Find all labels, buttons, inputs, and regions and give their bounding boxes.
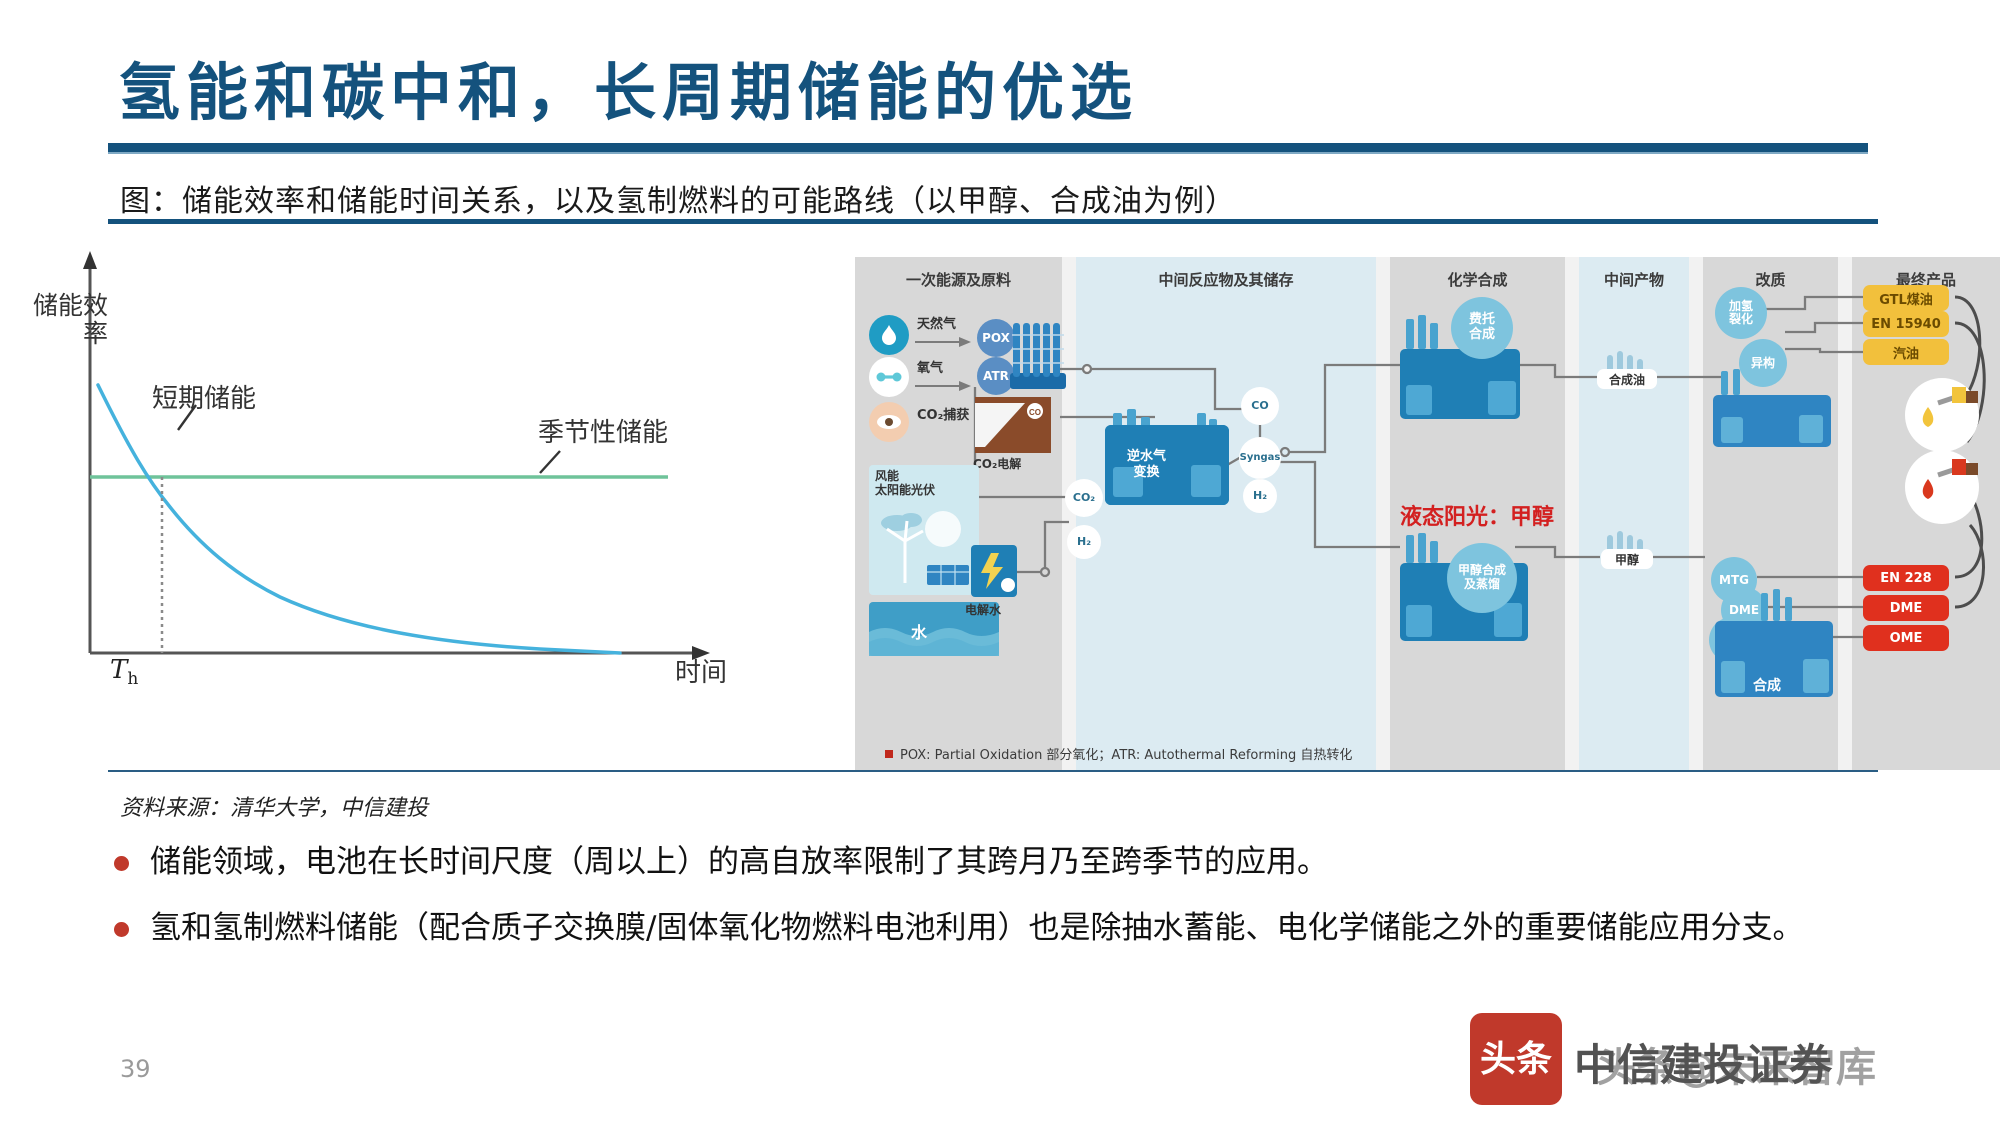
final-product-gtl-kerosene: GTL煤油 xyxy=(1863,285,1949,311)
svg-text:CO: CO xyxy=(1029,408,1041,417)
diagram-footnote: POX: Partial Oxidation 部分氧化；ATR: Autothe… xyxy=(885,744,1352,763)
midproduct-syn-oil: 合成油 xyxy=(1597,369,1657,389)
carrier-h2-top-label: H₂ xyxy=(1253,490,1267,502)
footnote-bullet-icon xyxy=(885,750,893,758)
chart-x-tick-th: Th xyxy=(110,655,138,689)
footnote-text: POX: Partial Oxidation 部分氧化；ATR: Autothe… xyxy=(900,748,1352,763)
title-underline-thin xyxy=(108,152,1868,154)
slide-page: 氢能和碳中和，长周期储能的优选 图：储能效率和储能时间关系，以及氢制燃料的可能路… xyxy=(0,0,2000,1125)
methanol-synthesis-label: 甲醇合成及蒸馏 xyxy=(1458,564,1506,592)
reactor-pox-label: POX xyxy=(982,331,1010,345)
water-electrolysis-icon xyxy=(971,545,1017,597)
watermark-seal: 头条 xyxy=(1470,1013,1562,1105)
final-product-en228: EN 228 xyxy=(1863,565,1949,591)
fischer-tropsch-label: 费托合成 xyxy=(1469,313,1495,343)
wind-turbine-solar-icon xyxy=(875,507,975,593)
co2-electrolysis-icon: CO xyxy=(975,397,1051,453)
arrow-icon xyxy=(915,335,971,349)
final-product-ome: OME xyxy=(1863,625,1949,651)
flame-icon xyxy=(869,315,909,355)
upgrading-badge-isomerization-label: 异构 xyxy=(1751,357,1775,370)
carrier-h2-bottom: H₂ xyxy=(1067,525,1101,559)
midproduct-methanol: 甲醇 xyxy=(1601,549,1653,569)
list-item: 氢和氢制燃料储能（配合质子交换膜/固体氧化物燃料电池利用）也是除抽水蓄能、电化学… xyxy=(108,906,1898,950)
chart-svg xyxy=(20,245,740,675)
carrier-syngas-label: Syngas xyxy=(1240,453,1281,464)
figure-caption: 图：储能效率和储能时间关系，以及氢制燃料的可能路线（以甲醇、合成油为例） xyxy=(120,176,1236,220)
efficiency-vs-duration-chart xyxy=(20,245,740,675)
carrier-co: CO xyxy=(1241,387,1279,425)
rwgs-plant-icon xyxy=(1105,407,1229,505)
source-divider xyxy=(108,770,1878,772)
carrier-h2-top: H₂ xyxy=(1243,479,1277,513)
carrier-co2: CO₂ xyxy=(1065,479,1103,517)
carrier-co-label: CO xyxy=(1251,400,1268,412)
upgrading-badge-mtg-label: MTG xyxy=(1719,574,1749,587)
upgrading-badge-hydrocracking: 加氢裂化 xyxy=(1715,287,1767,339)
fischer-tropsch-badge: 费托合成 xyxy=(1451,297,1513,359)
reactor-atr-label: ATR xyxy=(983,369,1009,383)
feedstock-label-water: 水 xyxy=(911,619,927,643)
upgrading-plant-icon xyxy=(1713,369,1831,447)
chart-x-axis-label: 时间 xyxy=(675,652,727,689)
final-product-gasoline: 汽油 xyxy=(1863,339,1949,365)
arrow-icon xyxy=(915,379,971,393)
carrier-h2-bottom-label: H₂ xyxy=(1077,536,1091,548)
unit-label-co2-electrolysis: CO₂电解 xyxy=(973,455,1021,472)
chart-y-axis-label: 储能效率 xyxy=(16,292,108,348)
co2-capture-icon xyxy=(869,402,909,442)
bullet-list: 储能领域，电池在长时间尺度（周以上）的高自放率限制了其跨月乃至跨季节的应用。 氢… xyxy=(108,840,1898,972)
unit-label-rwgs: 逆水气变换 xyxy=(1127,449,1166,480)
title-underline xyxy=(108,143,1868,152)
final-product-dme: DME xyxy=(1863,595,1949,621)
page-number: 39 xyxy=(120,1055,151,1083)
list-item: 储能领域，电池在长时间尺度（周以上）的高自放率限制了其跨月乃至跨季节的应用。 xyxy=(108,840,1898,884)
hydrogen-fuel-route-diagram: 一次能源及原料 中间反应物及其储存 化学合成 中间产物 改质 最终产品 xyxy=(855,257,2000,770)
watermark: 头条 中信建投证券 头条@未来智库 xyxy=(1470,1005,1970,1115)
fuel-pump-icons xyxy=(1890,377,2000,527)
unit-label-water-electrolysis: 电解水 xyxy=(965,601,1001,618)
methanol-synthesis-badge: 甲醇合成及蒸馏 xyxy=(1447,543,1517,613)
page-title: 氢能和碳中和，长周期储能的优选 xyxy=(118,42,1138,132)
unit-label-synthesis: 合成 xyxy=(1753,675,1781,695)
watermark-text-secondary: 头条@未来智库 xyxy=(1596,1035,1876,1093)
liquid-sunshine-highlight: 液态阳光：甲醇 xyxy=(1400,499,1554,531)
reformer-tubes-icon xyxy=(1010,319,1066,395)
feedstock-label-co2-capture: CO₂捕获 xyxy=(917,404,969,423)
chart-annotation-short-term: 短期储能 xyxy=(152,378,256,415)
final-product-en15940: EN 15940 xyxy=(1863,311,1949,337)
upgrading-badge-hydrocracking-label: 加氢裂化 xyxy=(1729,300,1753,325)
feedstock-label-oxygen: 氧气 xyxy=(917,357,943,376)
caption-underline xyxy=(108,219,1878,224)
molecule-icon xyxy=(869,357,909,397)
feedstock-label-wind-solar: 风能太阳能光伏 xyxy=(875,469,935,498)
carrier-co2-label: CO₂ xyxy=(1073,492,1095,504)
carrier-syngas: Syngas xyxy=(1239,437,1281,479)
feedstock-label-natural-gas: 天然气 xyxy=(917,313,956,332)
source-note: 资料来源：清华大学，中信建投 xyxy=(120,790,428,822)
chart-annotation-seasonal: 季节性储能 xyxy=(538,412,668,449)
